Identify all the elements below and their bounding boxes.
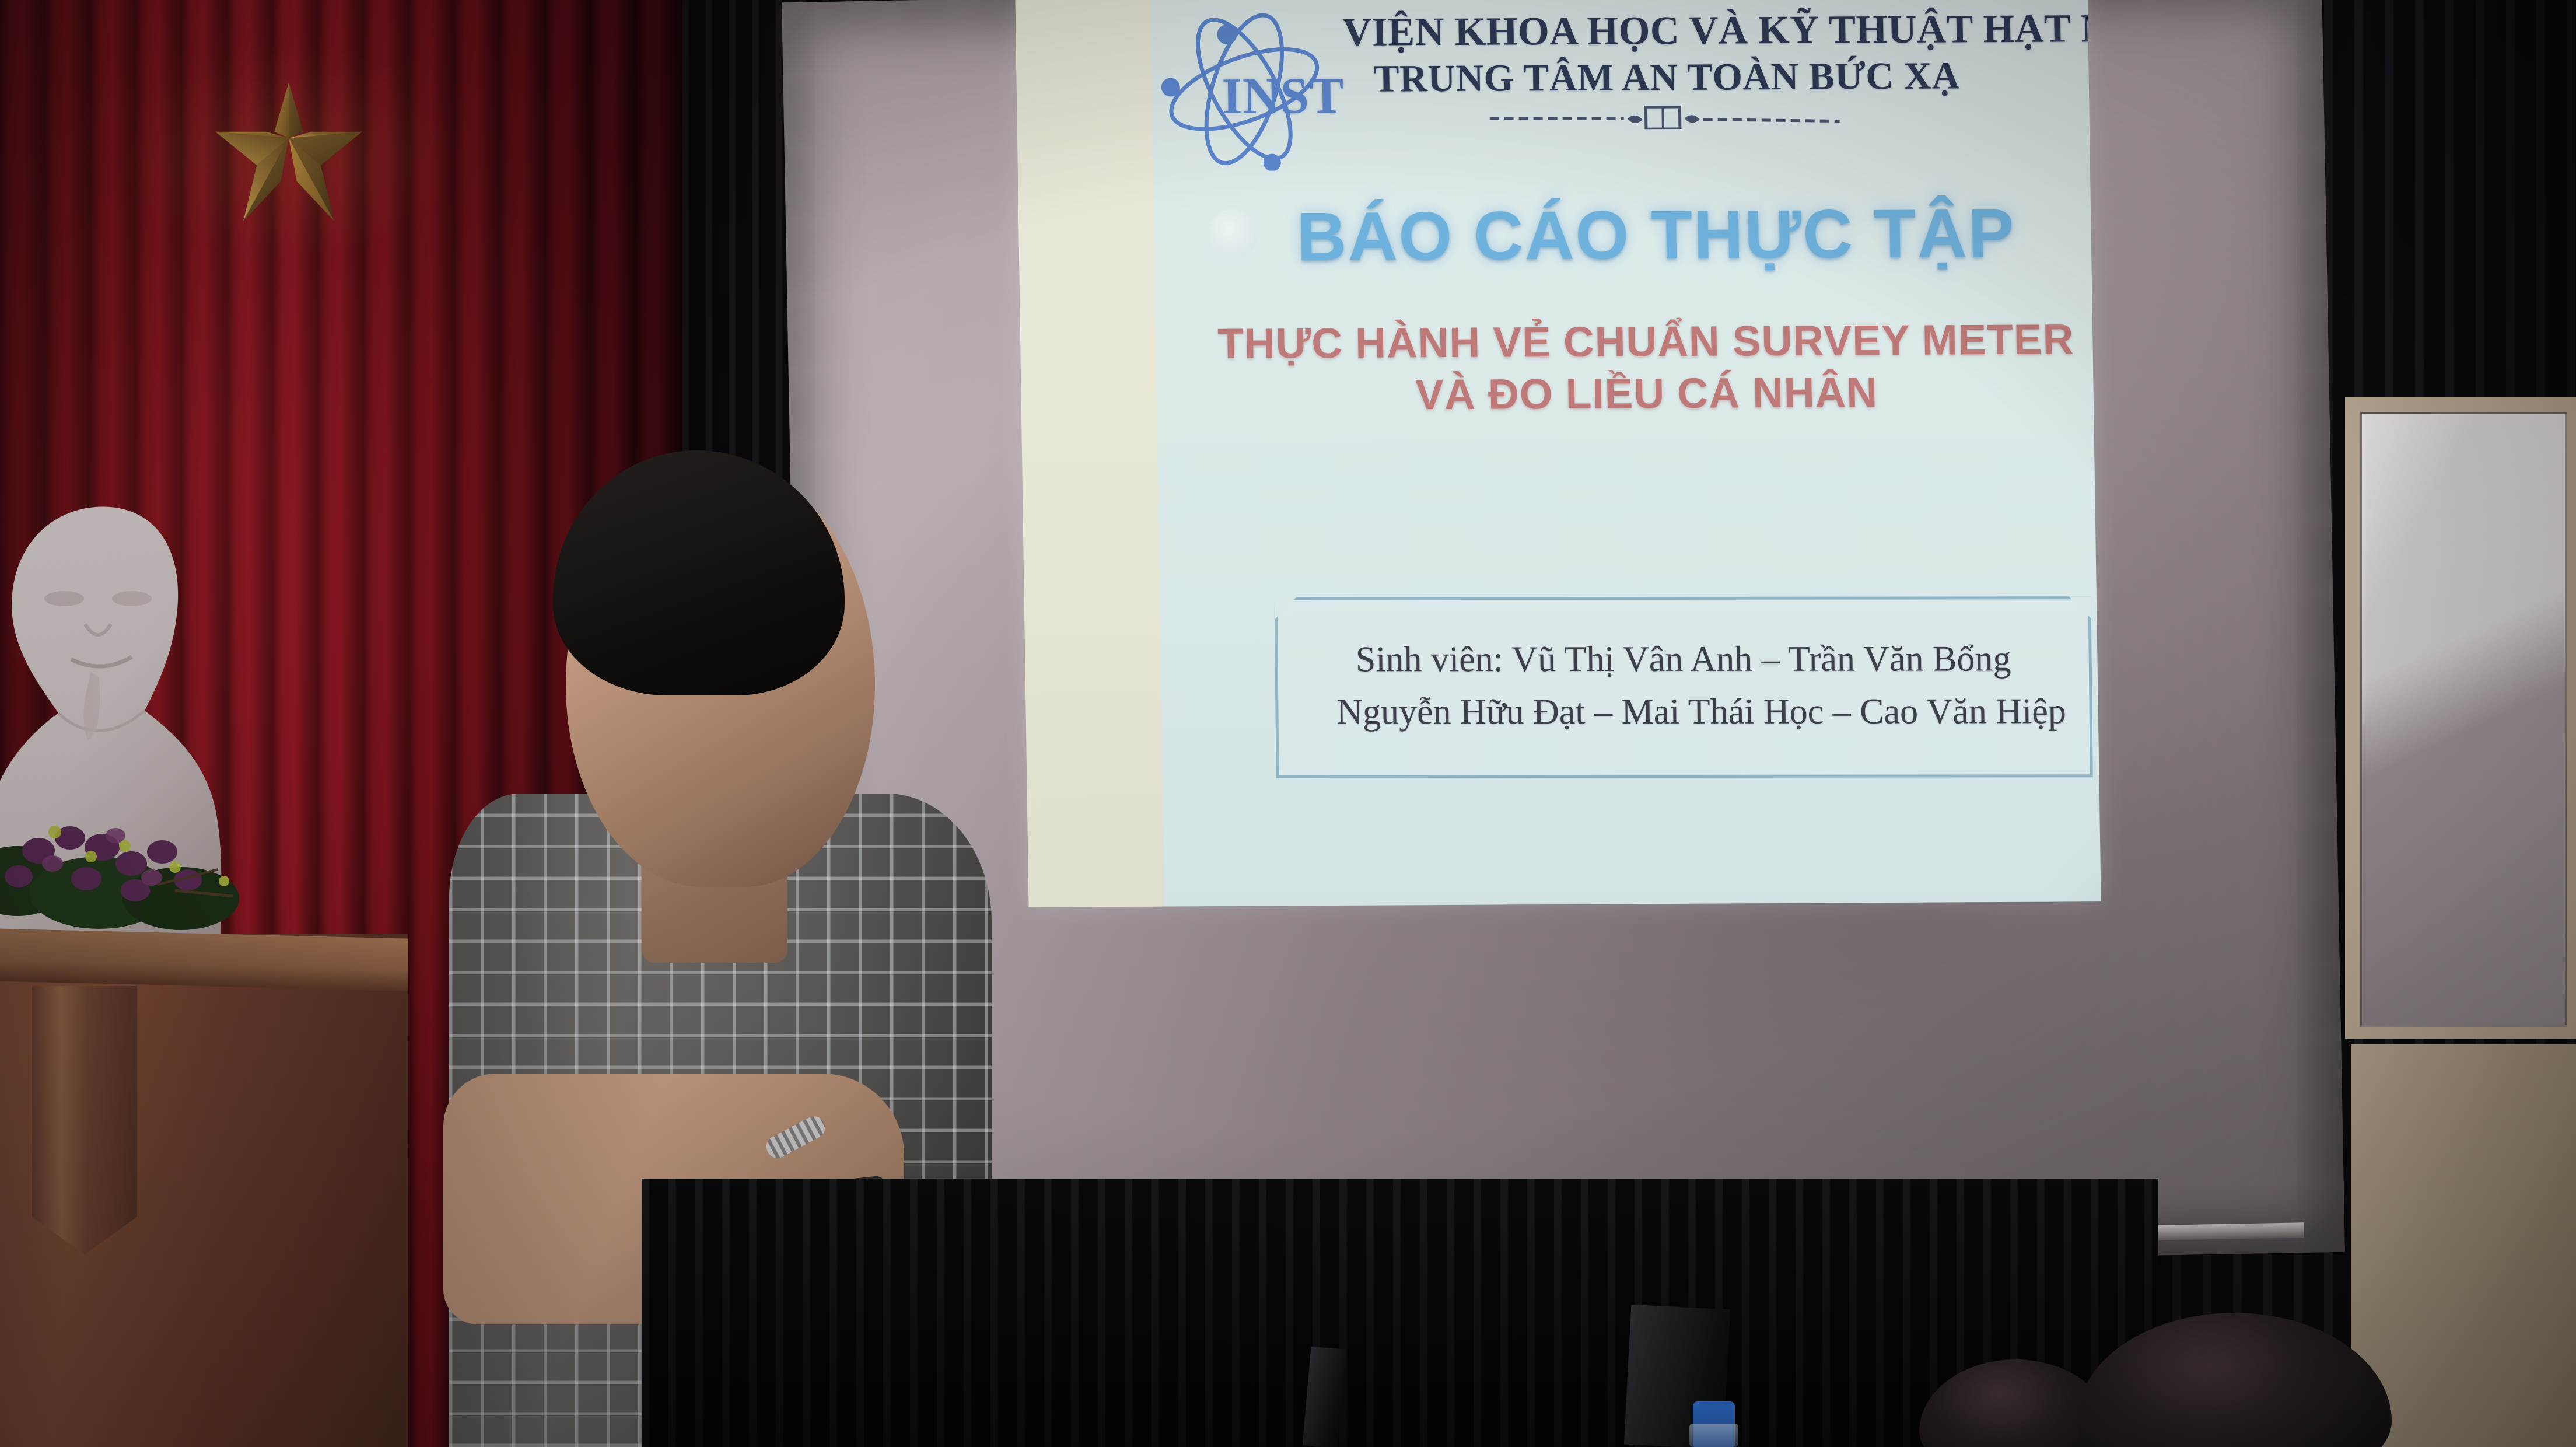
projected-slide: INST VIỆN KHOA HỌC VÀ KỸ THUẬT HẠT NHÂN … bbox=[1015, 0, 2101, 907]
wall-mounted-board-lower bbox=[2351, 1044, 2576, 1447]
subtitle-line-1: THỰC HÀNH VẺ CHUẨN SURVEY METER bbox=[1191, 313, 2101, 370]
student-names: Sinh viên: Vũ Thị Vân Anh – Trần Văn Bổn… bbox=[1277, 633, 2089, 739]
names-line-1: Sinh viên: Vũ Thị Vân Anh – Trần Văn Bổn… bbox=[1277, 633, 2089, 686]
slide-left-strip bbox=[1015, 0, 1164, 907]
divider-icon bbox=[1489, 105, 1840, 130]
flower-arrangement bbox=[0, 782, 257, 939]
subtitle-line-2: VÀ ĐO LIỀU CÁ NHÂN bbox=[1191, 365, 2101, 422]
organization-text: VIỆN KHOA HỌC VÀ KỸ THUẬT HẠT NHÂN TRUNG… bbox=[1342, 0, 2101, 131]
inst-logo: INST bbox=[1156, 1, 1345, 172]
flowers-shape bbox=[0, 782, 257, 939]
presenter-hair bbox=[553, 450, 845, 695]
org-line-2: TRUNG TÂM AN TOÀN BỨC XẠ bbox=[1343, 54, 2101, 100]
slide-subtitle: THỰC HÀNH VẺ CHUẨN SURVEY METER VÀ ĐO LI… bbox=[1191, 313, 2101, 422]
names-line-2: Nguyễn Hữu Đạt – Mai Thái Học – Cao Văn … bbox=[1278, 686, 2089, 739]
water-bottle bbox=[1689, 1424, 1738, 1447]
ornamental-divider bbox=[1489, 105, 1840, 130]
gold-star-emblem bbox=[143, 76, 435, 228]
slide-title: BÁO CÁO THỰC TẬP bbox=[1241, 193, 2071, 277]
star-glow bbox=[102, 35, 475, 268]
board-glossy-face bbox=[2360, 412, 2567, 1027]
pedestal-decorative-column bbox=[32, 986, 137, 1254]
org-line-1: VIỆN KHOA HỌC VÀ KỸ THUẬT HẠT NHÂN bbox=[1342, 6, 2101, 55]
inst-logo-text: INST bbox=[1221, 67, 1345, 126]
presentation-photo: INST VIỆN KHOA HỌC VÀ KỸ THUẬT HẠT NHÂN … bbox=[0, 0, 2576, 1447]
pedestal-top-surface bbox=[0, 928, 408, 991]
student-names-box: Sinh viên: Vũ Thị Vân Anh – Trần Văn Bổn… bbox=[1274, 596, 2092, 778]
wall-mounted-board bbox=[2345, 397, 2576, 1039]
slide-content: INST VIỆN KHOA HỌC VÀ KỸ THUẬT HẠT NHÂN … bbox=[1150, 0, 2101, 907]
slide-header: INST VIỆN KHOA HỌC VÀ KỸ THUẬT HẠT NHÂN … bbox=[1145, 0, 2093, 174]
